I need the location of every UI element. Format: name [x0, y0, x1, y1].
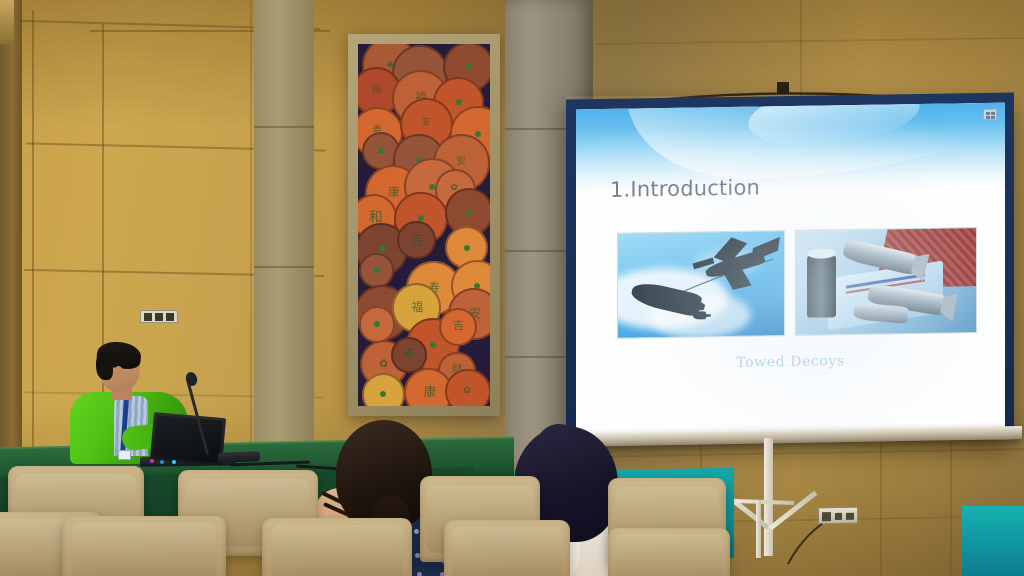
art-motif-glyph: 安	[456, 157, 466, 167]
presenter-laptop[interactable]	[150, 412, 226, 466]
power-cord	[782, 520, 842, 566]
floral-dot	[415, 553, 420, 558]
floral-dot	[414, 529, 419, 534]
light-switch-plate[interactable]	[140, 310, 178, 323]
chair-8[interactable]	[444, 520, 570, 576]
art-motif-glyph: 禎	[371, 86, 381, 96]
stone-pilaster-left	[254, 0, 314, 470]
floral-dot	[417, 572, 422, 576]
art-motif-glyph: 安	[422, 119, 431, 128]
laptop-indicator-led	[150, 459, 154, 463]
laptop-indicator-led	[160, 460, 164, 464]
art-center-dot	[475, 131, 481, 137]
slide-image-row	[617, 227, 977, 339]
slide-logo-icon	[983, 109, 997, 120]
art-motif-glyph: 福	[412, 302, 424, 314]
slide-title: 1.Introduction	[610, 175, 760, 201]
art-motif-glyph: 吉	[412, 234, 424, 246]
slide-caption: Towed Decoys	[576, 351, 1005, 374]
art-center-dot	[464, 245, 470, 251]
towed-decoy-hardware-photo	[795, 227, 977, 336]
art-center-dot	[456, 99, 462, 105]
ear	[114, 366, 123, 378]
chair-7[interactable]	[262, 518, 412, 576]
microphone-base	[218, 451, 260, 462]
badge	[118, 450, 131, 460]
wall-seam	[32, 10, 34, 450]
art-motif-glyph: ✿	[463, 386, 471, 395]
chair-6[interactable]	[62, 516, 226, 576]
art-motif-glyph: 吉	[453, 321, 464, 332]
chair-9[interactable]	[608, 528, 730, 576]
presentation-slide: 1.Introduction	[576, 103, 1005, 436]
art-motif-glyph: 康	[424, 386, 436, 398]
projection-screen: 1.Introduction	[566, 92, 1014, 443]
teal-table-right	[962, 506, 1024, 576]
circular-motif-art-panel: ⁕禎福寿安安康✿和吉寿✿福安吉✿寿财康✿	[348, 34, 500, 416]
presenter-hair	[96, 352, 113, 380]
left-wall-ledge	[0, 0, 14, 44]
art-motif-glyph: 寿	[404, 349, 414, 359]
laptop-indicator-led	[172, 460, 176, 464]
art-center-dot	[466, 210, 472, 216]
art-motif-glyph: 康	[388, 187, 399, 198]
art-motif-glyph: ✿	[379, 358, 388, 369]
art-center-dot	[430, 342, 436, 348]
conference-room-photo: ⁕禎福寿安安康✿和吉寿✿福安吉✿寿财康✿	[0, 0, 1024, 576]
art-center-dot	[378, 148, 384, 154]
fighter-jet-with-towed-decoy-photo	[617, 230, 785, 339]
